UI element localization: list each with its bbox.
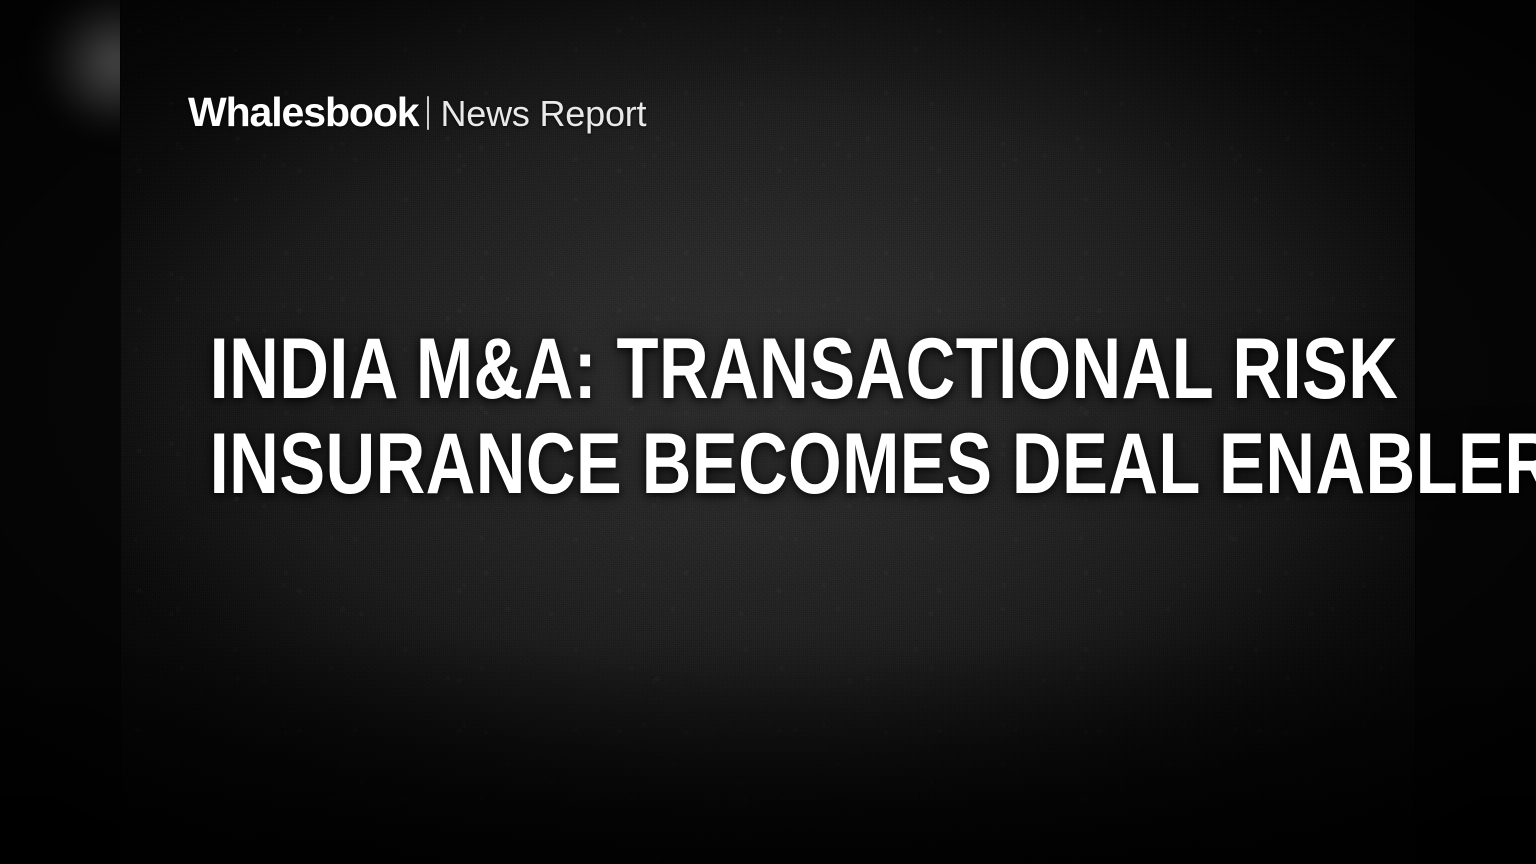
brand-divider-icon [427,96,429,130]
headline-line-2: INSURANCE BECOMES DEAL ENABLER [210,417,1327,512]
brand-name: Whalesbook [188,92,418,133]
news-report-card: Whalesbook News Report INDIA M&A: TRANSA… [0,0,1536,864]
card-content: Whalesbook News Report INDIA M&A: TRANSA… [0,0,1536,864]
brand-lockup: Whalesbook News Report [188,92,646,133]
headline-line-1: INDIA M&A: TRANSACTIONAL RISK [210,322,1327,417]
brand-subtitle: News Report [440,96,646,132]
headline: INDIA M&A: TRANSACTIONAL RISK INSURANCE … [0,322,1536,512]
